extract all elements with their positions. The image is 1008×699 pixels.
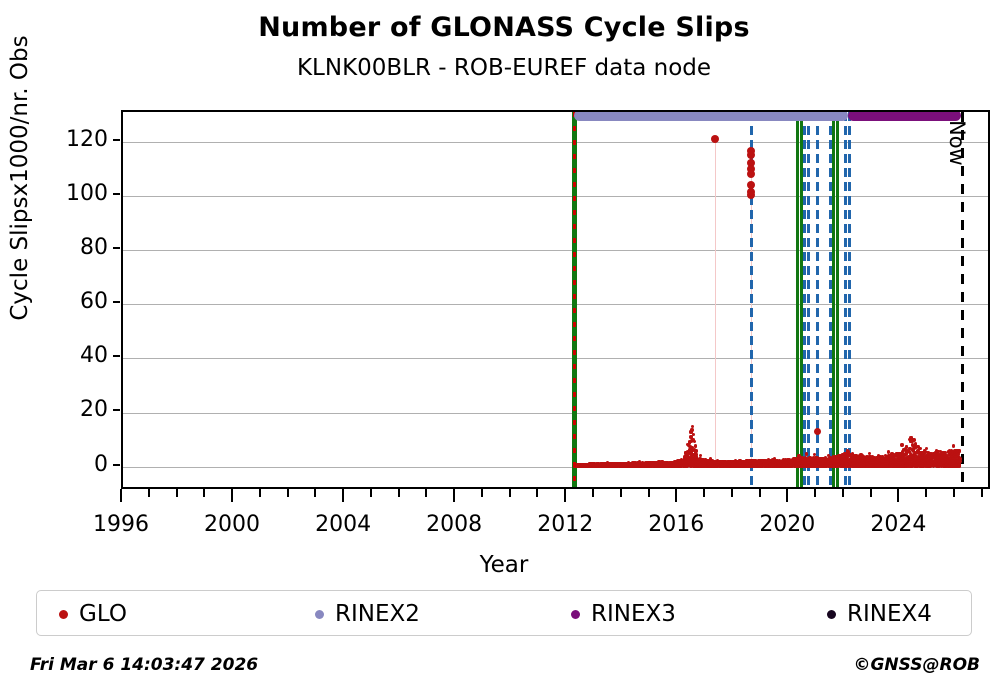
legend-label: RINEX4 — [847, 601, 932, 627]
x-tick-label: 2008 — [404, 512, 504, 537]
x-tick-mark-minor — [148, 489, 150, 497]
y-tick-label: 120 — [38, 129, 108, 151]
chart-page: Number of GLONASS Cycle Slips KLNK00BLR … — [0, 0, 1008, 699]
grid-line — [123, 142, 988, 143]
y-tick-mark — [113, 301, 120, 303]
legend-item-glo[interactable]: GLO — [59, 591, 127, 637]
x-tick-mark-minor — [398, 489, 400, 497]
data-point — [690, 428, 693, 431]
data-point — [925, 447, 928, 450]
x-tick-mark-major — [453, 489, 455, 502]
plot-area: Now — [121, 110, 990, 489]
y-tick-mark — [113, 409, 120, 411]
x-tick-mark-minor — [314, 489, 316, 497]
y-tick-label: 100 — [38, 183, 108, 205]
x-tick-mark-minor — [481, 489, 483, 497]
span-bar-rinex3 — [848, 112, 962, 121]
data-point — [699, 454, 702, 457]
x-axis-label: Year — [0, 552, 1008, 578]
x-tick-mark-major — [342, 489, 344, 502]
x-tick-mark-minor — [287, 489, 289, 497]
x-tick-mark-minor — [620, 489, 622, 497]
x-tick-mark-minor — [981, 489, 983, 497]
outlier-point — [711, 135, 719, 143]
x-tick-label: 2024 — [848, 512, 948, 537]
x-tick-mark-minor — [536, 489, 538, 497]
legend-label: RINEX2 — [335, 601, 420, 627]
grid-line — [123, 304, 988, 305]
x-tick-mark-minor — [509, 489, 511, 497]
grid-line — [123, 250, 988, 251]
y-tick-label: 40 — [38, 345, 108, 367]
x-tick-mark-minor — [259, 489, 261, 497]
y-axis-label: Cycle Slipsx1000/nr. Obs — [7, 0, 33, 498]
y-tick-label: 0 — [38, 454, 108, 476]
glo-swatch-icon — [59, 610, 68, 619]
x-tick-mark-minor — [425, 489, 427, 497]
x-tick-label: 2020 — [737, 512, 837, 537]
legend-label: RINEX3 — [591, 601, 676, 627]
y-tick-mark — [113, 247, 120, 249]
data-point — [918, 447, 921, 450]
x-tick-label: 2004 — [293, 512, 393, 537]
legend-item-rinex2[interactable]: RINEX2 — [315, 591, 420, 637]
x-tick-mark-minor — [925, 489, 927, 497]
event-line-antenna-change — [807, 112, 810, 487]
y-tick-mark — [113, 139, 120, 141]
rinex2-swatch-icon — [315, 610, 324, 619]
outlier-point — [747, 170, 755, 178]
x-tick-mark-minor — [370, 489, 372, 497]
x-tick-label: 2000 — [182, 512, 282, 537]
x-tick-mark-minor — [814, 489, 816, 497]
x-tick-label: 1996 — [71, 512, 171, 537]
x-tick-mark-minor — [842, 489, 844, 497]
x-tick-mark-minor — [731, 489, 733, 497]
outlier-point — [747, 191, 755, 199]
legend-item-rinex3[interactable]: RINEX3 — [571, 591, 676, 637]
x-tick-label: 2012 — [515, 512, 615, 537]
now-line — [961, 112, 964, 487]
legend-item-rinex4[interactable]: RINEX4 — [827, 591, 932, 637]
plot-canvas: Now — [123, 112, 988, 487]
now-label: Now — [945, 120, 969, 166]
x-tick-mark-minor — [176, 489, 178, 497]
data-point — [805, 452, 808, 455]
x-tick-mark-minor — [592, 489, 594, 497]
legend-label: GLO — [79, 601, 127, 627]
grid-line — [123, 196, 988, 197]
outlier-stem — [715, 139, 716, 467]
y-tick-mark — [113, 355, 120, 357]
page-title: Number of GLONASS Cycle Slips — [0, 12, 1008, 43]
span-bar-rinex2 — [574, 112, 848, 121]
x-tick-mark-minor — [953, 489, 955, 497]
y-tick-label: 20 — [38, 399, 108, 421]
x-tick-mark-minor — [648, 489, 650, 497]
x-tick-mark-major — [786, 489, 788, 502]
data-point — [692, 433, 695, 436]
event-line-antenna-change — [844, 112, 847, 487]
data-point — [900, 443, 903, 446]
x-tick-mark-major — [564, 489, 566, 502]
y-tick-mark — [113, 193, 120, 195]
y-tick-label: 80 — [38, 237, 108, 259]
grid-line — [123, 358, 988, 359]
page-subtitle: KLNK00BLR - ROB-EUREF data node — [0, 55, 1008, 81]
timestamp: Fri Mar 6 14:03:47 2026 — [30, 655, 258, 675]
data-point — [952, 444, 955, 447]
copyright: ©GNSS@ROB — [853, 655, 980, 675]
data-point — [694, 444, 697, 447]
data-point — [958, 457, 961, 460]
data-point — [695, 450, 698, 453]
x-tick-mark-major — [120, 489, 122, 502]
event-line-receiver-change — [573, 112, 576, 487]
event-line-antenna-change — [848, 112, 851, 487]
x-tick-mark-major — [897, 489, 899, 502]
outlier-point — [747, 151, 755, 159]
y-tick-label: 60 — [38, 291, 108, 313]
outlier-point — [814, 428, 821, 435]
event-line-receiver-change — [836, 112, 839, 487]
event-line-receiver-change — [800, 112, 803, 487]
x-tick-mark-minor — [203, 489, 205, 497]
rinex4-swatch-icon — [827, 610, 836, 619]
data-point — [693, 440, 696, 443]
rinex3-swatch-icon — [571, 610, 580, 619]
x-tick-mark-minor — [759, 489, 761, 497]
y-tick-mark — [113, 464, 120, 466]
x-tick-mark-major — [231, 489, 233, 502]
x-tick-label: 2016 — [626, 512, 726, 537]
grid-line — [123, 413, 988, 414]
x-tick-mark-minor — [703, 489, 705, 497]
legend: GLO RINEX2 RINEX3 RINEX4 — [36, 590, 972, 636]
data-point — [912, 438, 915, 441]
event-line-antenna-change — [803, 112, 806, 487]
x-tick-mark-minor — [870, 489, 872, 497]
x-tick-mark-major — [675, 489, 677, 502]
